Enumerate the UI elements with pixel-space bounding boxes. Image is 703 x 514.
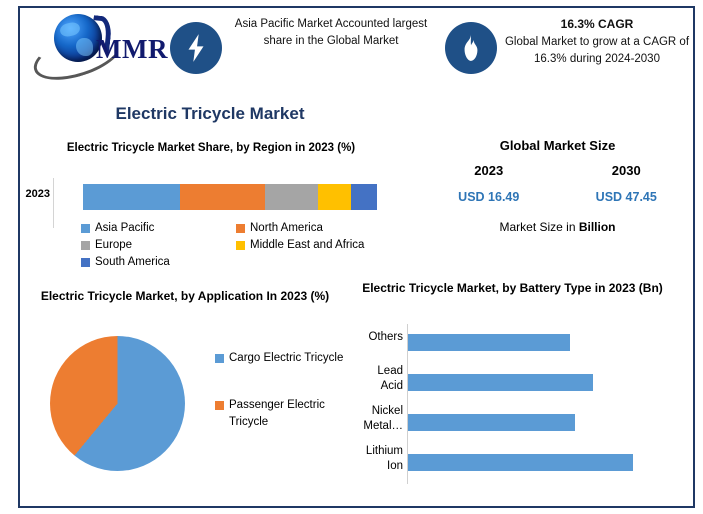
battery-category-label: Nickel Metal…	[355, 404, 403, 434]
region-segment-0	[83, 184, 180, 210]
region-chart-legend: Asia PacificNorth AmericaEuropeMiddle Ea…	[81, 220, 391, 271]
legend-item: Asia Pacific	[81, 220, 236, 236]
region-segment-2	[265, 184, 318, 210]
legend-item: Europe	[81, 237, 236, 253]
battery-chart-plot: OthersLead AcidNickel Metal…Lithium Ion	[355, 324, 675, 489]
legend-label: Asia Pacific	[95, 220, 154, 236]
pie-chart-graphic	[50, 336, 185, 471]
legend-label: South America	[95, 254, 170, 270]
pie-legend-item: Passenger Electric Tricycle	[215, 397, 355, 431]
flame-icon	[445, 22, 497, 74]
market-size-year-right: 2030	[558, 163, 696, 178]
region-segment-1	[180, 184, 265, 210]
region-chart-category-label: 2023	[24, 188, 50, 200]
legend-item: Middle East and Africa	[236, 237, 391, 253]
global-market-size-values: 2023 USD 16.49 2030 USD 47.45	[420, 163, 695, 204]
battery-bar	[408, 334, 570, 351]
legend-label: Middle East and Africa	[250, 237, 364, 253]
global-market-size-title: Global Market Size	[420, 138, 695, 153]
legend-item: North America	[236, 220, 391, 236]
legend-swatch-icon	[81, 241, 90, 250]
battery-type-chart: Electric Tricycle Market, by Battery Typ…	[355, 280, 695, 506]
pie-legend-swatch-icon	[215, 401, 224, 410]
battery-category-label: Lead Acid	[355, 364, 403, 394]
region-chart-axis	[53, 178, 54, 228]
region-segment-3	[318, 184, 350, 210]
legend-swatch-icon	[81, 224, 90, 233]
pie-legend-label: Cargo Electric Tricycle	[229, 350, 343, 367]
market-size-unit-note: Market Size in Billion	[420, 220, 695, 234]
market-size-unit-prefix: Market Size in	[499, 220, 578, 234]
market-size-2030: 2030 USD 47.45	[558, 163, 696, 204]
pie-legend-item: Cargo Electric Tricycle	[215, 350, 355, 367]
legend-swatch-icon	[81, 258, 90, 267]
battery-chart-row: Lithium Ion	[355, 444, 675, 484]
cagr-title: 16.3% CAGR	[503, 16, 691, 33]
market-size-year-left: 2023	[420, 163, 558, 178]
market-size-value-right: USD 47.45	[558, 190, 696, 204]
battery-chart-title: Electric Tricycle Market, by Battery Typ…	[355, 280, 670, 297]
page-title: Electric Tricycle Market	[0, 104, 420, 124]
battery-bar	[408, 374, 593, 391]
battery-chart-row: Others	[355, 324, 675, 364]
pie-legend-swatch-icon	[215, 354, 224, 363]
pie-chart-legend: Cargo Electric TricyclePassenger Electri…	[215, 350, 355, 461]
legend-label: Europe	[95, 237, 132, 253]
battery-bar	[408, 414, 575, 431]
battery-bar	[408, 454, 633, 471]
market-size-2023: 2023 USD 16.49	[420, 163, 558, 204]
brand-name: MMR	[96, 34, 168, 65]
header-item-text: Asia Pacific Market Accounted largest sh…	[232, 16, 430, 50]
region-chart-title: Electric Tricycle Market Share, by Regio…	[26, 140, 396, 156]
region-stacked-bar	[83, 184, 377, 210]
header: MMR Asia Pacific Market Accounted larges…	[20, 8, 692, 86]
legend-swatch-icon	[236, 241, 245, 250]
cagr-description: Global Market to grow at a CAGR of 16.3%…	[503, 34, 691, 68]
pie-chart-title: Electric Tricycle Market, by Application…	[20, 288, 350, 305]
infographic-page: MMR Asia Pacific Market Accounted larges…	[0, 0, 703, 514]
global-market-size-panel: Global Market Size 2023 USD 16.49 2030 U…	[420, 138, 695, 234]
region-segment-4	[351, 184, 377, 210]
header-item-text-block: 16.3% CAGR Global Market to grow at a CA…	[503, 16, 691, 68]
battery-category-label: Others	[355, 330, 403, 345]
legend-label: North America	[250, 220, 323, 236]
application-pie-chart: Electric Tricycle Market, by Application…	[20, 288, 360, 504]
legend-swatch-icon	[236, 224, 245, 233]
pie-legend-label: Passenger Electric Tricycle	[229, 397, 355, 431]
market-size-unit-bold: Billion	[579, 220, 616, 234]
battery-category-label: Lithium Ion	[355, 444, 403, 474]
market-size-value-left: USD 16.49	[420, 190, 558, 204]
lightning-bolt-icon	[170, 22, 222, 74]
battery-chart-row: Lead Acid	[355, 364, 675, 404]
battery-chart-row: Nickel Metal…	[355, 404, 675, 444]
region-share-chart: Electric Tricycle Market Share, by Regio…	[26, 140, 396, 280]
brand-logo: MMR	[26, 10, 161, 72]
legend-item: South America	[81, 254, 236, 270]
